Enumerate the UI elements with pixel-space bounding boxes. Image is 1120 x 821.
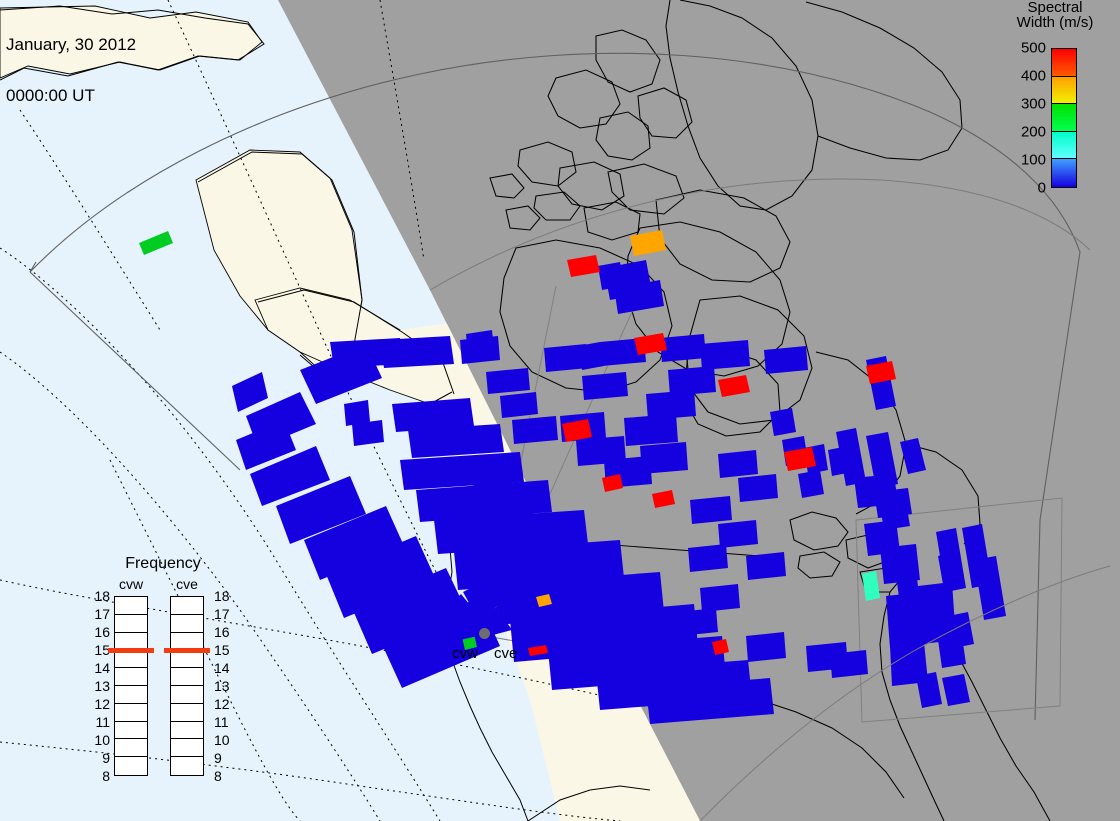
gauge-cell bbox=[115, 615, 147, 633]
freq-tick-left-17: 17 bbox=[88, 607, 110, 621]
colorbar-title-line1: Spectral bbox=[990, 0, 1120, 15]
colorbar-band-1 bbox=[1052, 77, 1076, 105]
site-label-cve: cve bbox=[494, 646, 517, 661]
freq-tick-left-12: 12 bbox=[88, 697, 110, 711]
frequency-marker-cve bbox=[164, 648, 210, 653]
gauge-cell bbox=[171, 686, 203, 704]
freq-tick-right-15: 15 bbox=[214, 643, 236, 657]
gauge-cell bbox=[171, 597, 203, 615]
gauge-cell bbox=[115, 757, 147, 775]
colorbar-tick-500: 500 bbox=[1021, 41, 1046, 56]
frequency-panel: Frequency cvw cve 18171615141312111098 1… bbox=[88, 556, 238, 791]
freq-tick-right-9: 9 bbox=[214, 751, 236, 765]
freq-tick-right-11: 11 bbox=[214, 715, 236, 729]
freq-tick-left-14: 14 bbox=[88, 661, 110, 675]
colorbar-band-2 bbox=[1052, 104, 1076, 132]
timestamp-label: January, 30 2012 0000:00 UT bbox=[6, 2, 136, 138]
freq-tick-right-10: 10 bbox=[214, 733, 236, 747]
freq-tick-right-8: 8 bbox=[214, 769, 236, 783]
gauge-cell bbox=[171, 704, 203, 722]
colorbar-tick-400: 400 bbox=[1021, 69, 1046, 84]
gauge-cell bbox=[115, 597, 147, 615]
frequency-title: Frequency bbox=[88, 556, 238, 572]
freq-tick-right-17: 17 bbox=[214, 607, 236, 621]
freq-tick-right-14: 14 bbox=[214, 661, 236, 675]
freq-tick-left-18: 18 bbox=[88, 589, 110, 603]
colorbar-gradient bbox=[1051, 48, 1077, 188]
gauge-cell bbox=[171, 757, 203, 775]
date-label: January, 30 2012 bbox=[6, 36, 136, 53]
colorbar-tick-0: 0 bbox=[1038, 181, 1046, 196]
freq-tick-left-8: 8 bbox=[88, 769, 110, 783]
freq-tick-right-18: 18 bbox=[214, 589, 236, 603]
freq-tick-right-16: 16 bbox=[214, 625, 236, 639]
frequency-marker-cvw bbox=[108, 648, 154, 653]
colorbar-tick-300: 300 bbox=[1021, 97, 1046, 112]
radar-site-marker bbox=[479, 628, 490, 639]
colorbar-band-3 bbox=[1052, 132, 1076, 160]
gauge-cell bbox=[171, 722, 203, 740]
gauge-cell bbox=[115, 668, 147, 686]
freq-tick-left-10: 10 bbox=[88, 733, 110, 747]
colorbar-tick-labels: 5004003002001000 bbox=[996, 40, 1046, 196]
gauge-cell bbox=[115, 650, 147, 668]
freq-tick-left-9: 9 bbox=[88, 751, 110, 765]
gauge-cell bbox=[171, 739, 203, 757]
gauge-cell bbox=[171, 650, 203, 668]
site-label-cvw: cvw bbox=[452, 646, 478, 661]
colorbar-band-4 bbox=[1052, 159, 1076, 187]
gauge-header-cvw: cvw bbox=[108, 577, 154, 591]
colorbar-band-0 bbox=[1052, 49, 1076, 77]
gauge-cell bbox=[171, 668, 203, 686]
gauge-cell bbox=[115, 704, 147, 722]
colorbar-tick-200: 200 bbox=[1021, 125, 1046, 140]
freq-tick-left-15: 15 bbox=[88, 643, 110, 657]
freq-tick-left-16: 16 bbox=[88, 625, 110, 639]
fanplot-root: January, 30 2012 0000:00 UT Spectral Wid… bbox=[0, 0, 1120, 821]
colorbar-title-line2: Width (m/s) bbox=[990, 15, 1120, 30]
gauge-header-cve: cve bbox=[164, 577, 210, 591]
frequency-gauge-cve[interactable] bbox=[170, 596, 204, 776]
gauge-cell bbox=[115, 739, 147, 757]
colorbar-tick-100: 100 bbox=[1021, 153, 1046, 168]
frequency-gauge-cvw[interactable] bbox=[114, 596, 148, 776]
freq-tick-left-13: 13 bbox=[88, 679, 110, 693]
colorbar-title: Spectral Width (m/s) bbox=[990, 0, 1120, 30]
time-label: 0000:00 UT bbox=[6, 87, 136, 104]
colorbar: Spectral Width (m/s) 5004003002001000 bbox=[990, 0, 1120, 200]
gauge-cell bbox=[171, 615, 203, 633]
gauge-cell bbox=[115, 686, 147, 704]
freq-tick-right-13: 13 bbox=[214, 679, 236, 693]
freq-tick-left-11: 11 bbox=[88, 715, 110, 729]
gauge-cell bbox=[115, 722, 147, 740]
freq-tick-right-12: 12 bbox=[214, 697, 236, 711]
